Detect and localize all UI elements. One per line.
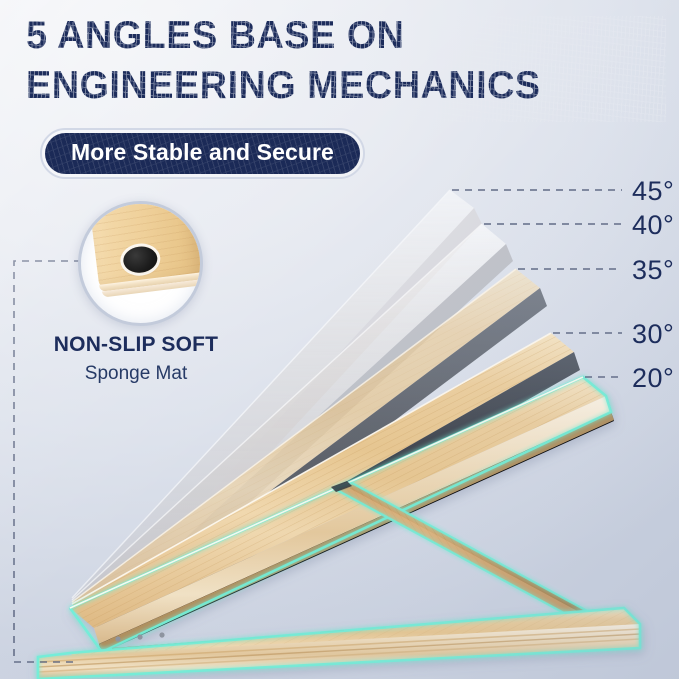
angle-leader-lines [452,190,622,377]
headline-line-2: ENGINEERING MECHANICS [26,66,637,105]
angle-label-45: 45° [632,176,674,207]
angle-label-40: 40° [632,210,674,241]
non-slip-caption: NON-SLIP SOFT Sponge Mat [0,333,272,385]
hinge-screws [115,632,164,641]
base-right-shelf [534,611,622,638]
badge-label: More Stable and Secure [45,133,360,174]
callout-title: NON-SLIP SOFT [0,333,272,357]
bamboo-corner-illustration [88,201,203,313]
base-tray-cavity [104,618,530,672]
non-slip-detail-inset [78,201,203,326]
subtitle-badge: More Stable and Secure [40,128,365,179]
board-20-top-panel [70,377,614,653]
measure-guide-line [14,261,198,662]
callout-subtitle: Sponge Mat [0,363,272,385]
angle-label-20: 20° [632,363,674,394]
angle-label-30: 30° [632,319,674,350]
product-infographic: 5 ANGLES BASE ON ENGINEERING MECHANICS M… [0,0,679,679]
angle-label-35: 35° [632,255,674,286]
badge-outer-ring: More Stable and Secure [40,128,365,179]
support-leg [331,481,600,625]
base-plate [38,608,640,679]
page-title: 5 ANGLES BASE ON ENGINEERING MECHANICS [26,16,656,105]
headline-line-1: 5 ANGLES BASE ON [26,16,637,55]
base-slots [320,618,518,662]
